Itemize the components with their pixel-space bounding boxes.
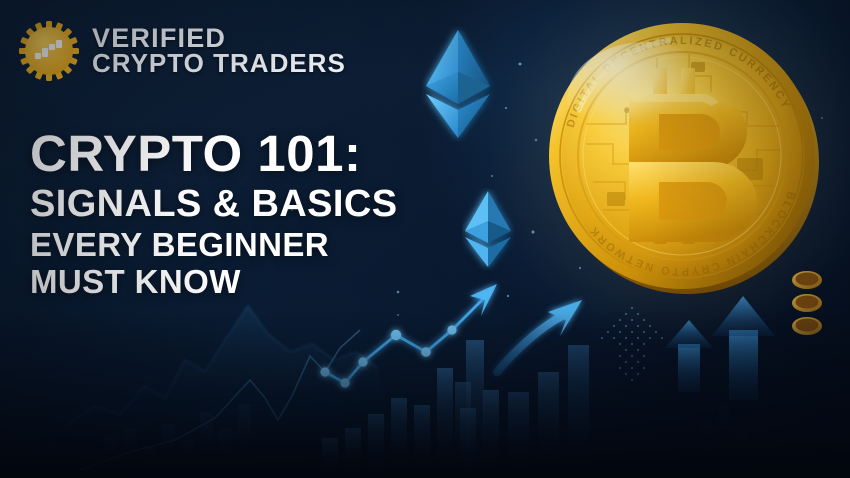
headline-block: CRYPTO 101: SIGNALS & BASICS EVERY BEGIN… [30,128,397,301]
headline-line-1: CRYPTO 101: [30,128,397,179]
brand-logo-text: VERIFIED CRYPTO TRADERS [92,25,346,77]
promo-banner: DIGITAL DECENTRALIZED CURRENCY BLOCKCHAI… [0,0,850,478]
headline-line-4: MUST KNOW [30,263,397,301]
chart-area-left [60,306,400,478]
chart-bars-right [508,345,589,478]
chart-bars-center [322,340,499,478]
coin-stack-icon [790,270,824,336]
headline-line-3: EVERY BEGINNER [30,226,397,264]
brand-logo[interactable]: VERIFIED CRYPTO TRADERS [18,20,346,82]
headline-line-2: SIGNALS & BASICS [30,183,397,226]
bitcoin-coin-icon: DIGITAL DECENTRALIZED CURRENCY BLOCKCHAI… [541,14,822,295]
gear-chart-logo-icon [18,20,80,82]
chart-bars-left [105,404,251,478]
chart-line-left [80,330,360,470]
brand-line-2: CRYPTO TRADERS [92,51,346,76]
chart-bars-far-right [700,404,748,478]
